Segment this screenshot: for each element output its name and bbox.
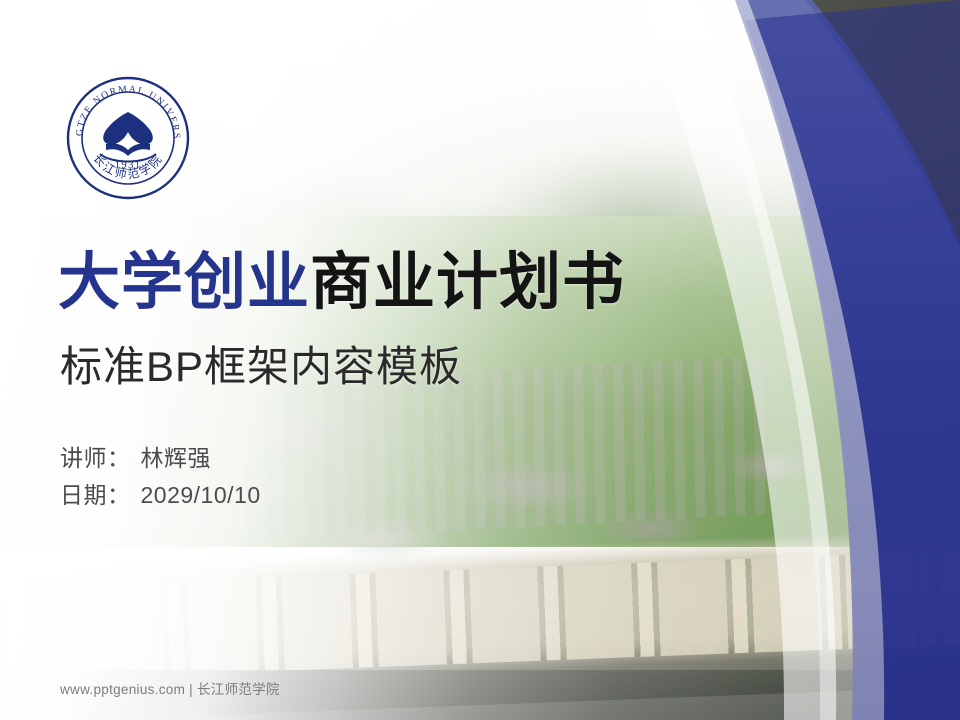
footer-separator: | <box>189 682 193 697</box>
date-value: 2029/10/10 <box>141 477 261 514</box>
page-title-dark-part: 商业计划书 <box>310 248 625 317</box>
presenter-value: 林辉强 <box>141 440 212 477</box>
logo-year: 1931 <box>115 159 142 171</box>
page-title: 大学创业商业计划书 <box>58 252 625 314</box>
presenter-label: 讲师： <box>60 440 131 477</box>
cover-slide: YANGTZE NORMAL UNIVERSITY 长江师范学院 1931 大学… <box>0 0 960 720</box>
page-title-blue-part: 大学创业 <box>58 248 310 317</box>
footer: www.pptgenius.com|长江师范学院 <box>60 678 280 698</box>
date-label: 日期： <box>60 477 131 514</box>
presenter-row: 讲师：林辉强 <box>60 440 261 477</box>
date-row: 日期：2029/10/10 <box>60 477 261 514</box>
university-logo: YANGTZE NORMAL UNIVERSITY 长江师范学院 1931 <box>62 72 194 204</box>
footer-institution: 长江师范学院 <box>197 682 280 697</box>
footer-site[interactable]: www.pptgenius.com <box>60 682 185 697</box>
page-subtitle: 标准BP框架内容模板 <box>60 346 462 388</box>
presenter-meta-block: 讲师：林辉强 日期：2029/10/10 <box>60 440 261 515</box>
